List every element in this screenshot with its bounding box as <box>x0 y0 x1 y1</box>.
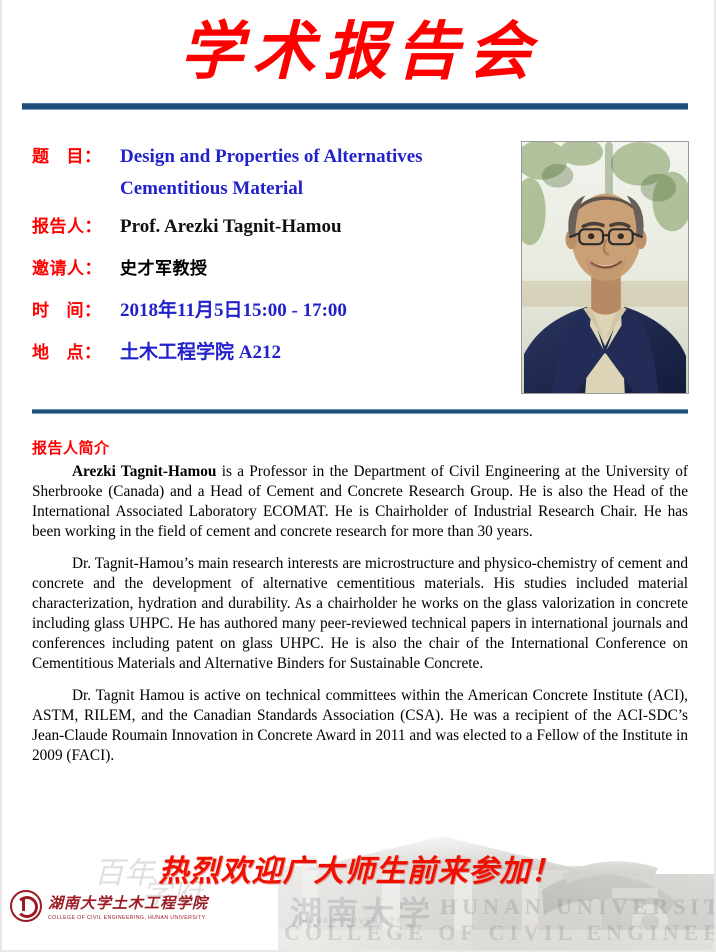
bio-paragraph-3: Dr. Tagnit Hamou is active on technical … <box>32 686 688 766</box>
info-value-speaker: Prof. Arezki Tagnit-Hamou <box>120 214 342 240</box>
bio-paragraph-2: Dr. Tagnit-Hamou’s main research interes… <box>32 554 688 674</box>
college-logo-text: 湖南大学土木工程学院 COLLEGE OF CIVIL ENGINEERING,… <box>48 892 208 921</box>
info-value-venue: 土木工程学院 A212 <box>120 340 281 366</box>
seminar-poster: 学术报告会 题目： Design and Properties of Alter… <box>0 0 716 952</box>
college-logo: 湖南大学土木工程学院 COLLEGE OF CIVIL ENGINEERING,… <box>10 890 208 922</box>
bio-paragraph-1: Arezki Tagnit-Hamou is a Professor in th… <box>32 462 688 542</box>
info-value-time: 2018年11月5日15:00 - 17:00 <box>120 298 347 324</box>
info-label-time: 时间： <box>32 296 120 321</box>
college-logo-cn: 湖南大学土木工程学院 <box>48 892 208 913</box>
info-label-speaker: 报告人： <box>32 212 120 237</box>
info-row-speaker: 报告人： Prof. Arezki Tagnit-Hamou <box>32 212 502 240</box>
bio-body: Arezki Tagnit-Hamou is a Professor in th… <box>32 462 688 778</box>
info-row-time: 时间： 2018年11月5日15:00 - 17:00 <box>32 296 502 324</box>
speaker-photo <box>521 141 689 394</box>
info-value-topic-line2: Cementitious Material <box>120 178 502 200</box>
info-row-venue: 地点： 土木工程学院 A212 <box>32 338 502 366</box>
bio-heading: 报告人简介 <box>32 437 110 458</box>
watermark-college-en: COLLEGE OF CIVIL ENGINEERING <box>284 920 716 946</box>
divider-middle <box>32 409 688 414</box>
info-row-inviter: 邀请人： 史才军教授 <box>32 254 502 282</box>
seminar-info-block: 题目： Design and Properties of Alternative… <box>32 142 502 380</box>
poster-title-band: 学术报告会 <box>2 14 716 88</box>
info-label-venue: 地点： <box>32 338 120 363</box>
info-value-topic: Design and Properties of Alternatives <box>120 144 423 170</box>
watermark-university-en: HUNAN UNIVERSITY <box>440 894 716 920</box>
info-label-topic: 题目： <box>32 142 120 167</box>
divider-top <box>22 103 688 110</box>
welcome-message: 热烈欢迎广大师生前来参加！ <box>2 846 716 890</box>
info-label-inviter: 邀请人： <box>32 254 120 279</box>
page-title: 学术报告会 <box>2 14 716 88</box>
bio-speaker-name: Arezki Tagnit-Hamou <box>72 463 216 480</box>
footer-banner: 百年 学府 湖南大学 HUNAN UNIVERSITY HUNAN UNIVER… <box>2 830 716 952</box>
info-row-topic: 题目： Design and Properties of Alternative… <box>32 142 502 170</box>
info-value-inviter: 史才军教授 <box>120 256 208 282</box>
college-logo-en: COLLEGE OF CIVIL ENGINEERING, HUNAN UNIV… <box>48 915 208 921</box>
university-seal-icon <box>10 890 42 922</box>
speaker-portrait-illustration <box>522 142 688 393</box>
